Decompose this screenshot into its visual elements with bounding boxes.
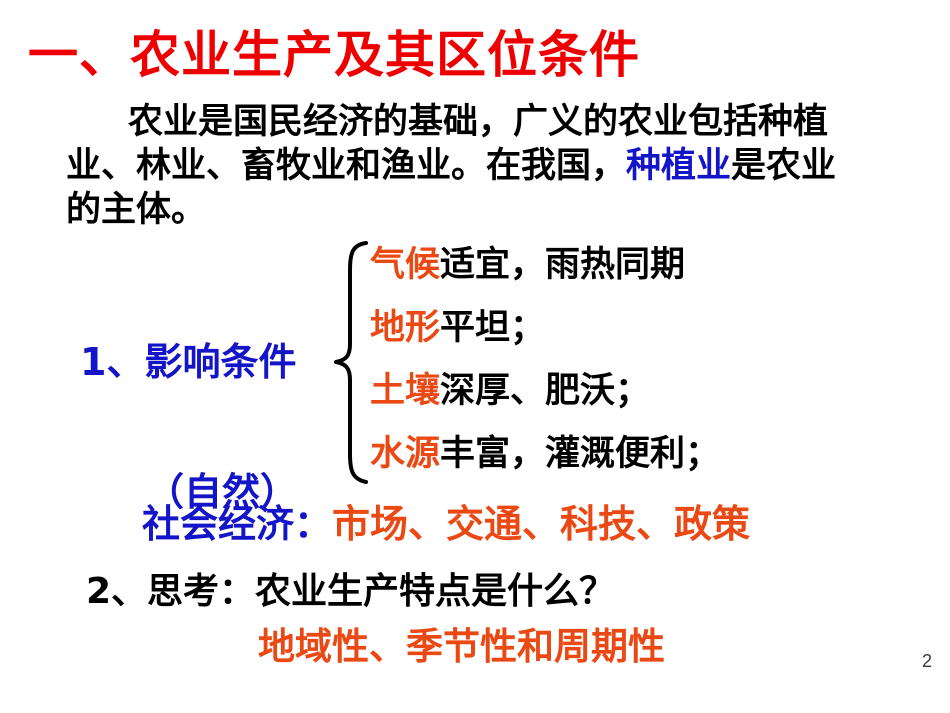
factor-key: 水源 — [370, 434, 440, 474]
left-curly-brace-icon — [332, 240, 372, 485]
factor-text: 适宜，雨热同期 — [440, 245, 685, 285]
socioeconomic-label: 社会经济： — [142, 502, 332, 546]
list-item: 地形平坦； — [370, 306, 930, 369]
list-item: 土壤深厚、肥沃； — [370, 369, 930, 432]
intro-paragraph: 农业是国民经济的基础，广义的农业包括种植业、林业、畜牧业和渔业。在我国，种植业是… — [66, 100, 866, 232]
page-number: 2 — [922, 651, 932, 671]
socioeconomic-line: 社会经济：市场、交通、科技、政策 — [142, 501, 750, 547]
intro-highlight-zhongzhiye: 种植业 — [626, 146, 731, 186]
slide-canvas: 一、农业生产及其区位条件 农业是国民经济的基础，广义的农业包括种植业、林业、畜牧… — [0, 0, 950, 713]
factor-text: 平坦； — [440, 308, 545, 348]
factor-key: 土壤 — [370, 371, 440, 411]
answer-line: 地域性、季节性和周期性 — [258, 624, 665, 670]
factor-key: 地形 — [370, 308, 440, 348]
socioeconomic-items: 市场、交通、科技、政策 — [332, 502, 750, 546]
condition-label: 1、影响条件 — [80, 338, 316, 386]
list-item: 水源丰富，灌溉便利； — [370, 432, 930, 495]
page-title: 一、农业生产及其区位条件 — [28, 24, 640, 86]
factor-text: 深厚、肥沃； — [440, 371, 650, 411]
factor-key: 气候 — [370, 245, 440, 285]
question-line: 2、思考：农业生产特点是什么？ — [86, 570, 615, 614]
list-item: 气候适宜，雨热同期 — [370, 243, 930, 306]
natural-factor-list: 气候适宜，雨热同期 地形平坦； 土壤深厚、肥沃； 水源丰富，灌溉便利； — [370, 243, 930, 495]
factor-text: 丰富，灌溉便利； — [440, 434, 720, 474]
